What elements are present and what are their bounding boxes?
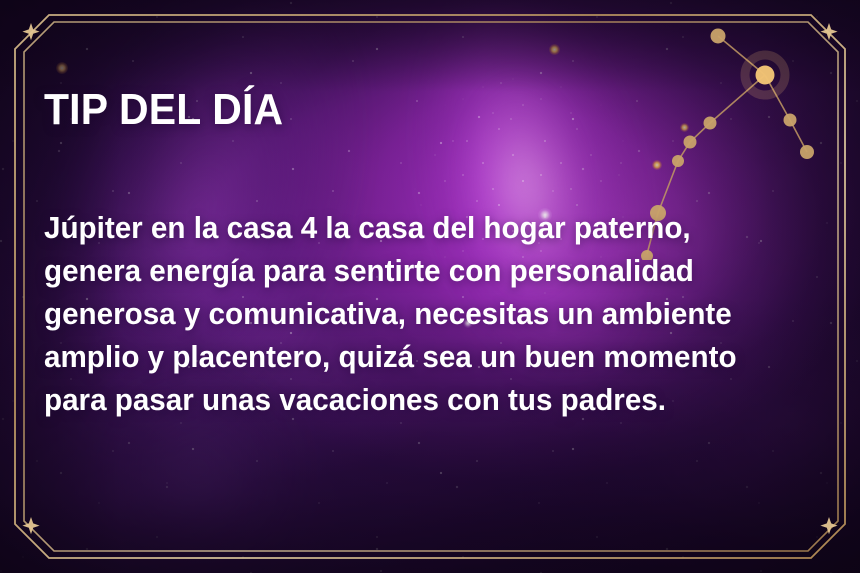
card-content: TIP DEL DÍA Júpiter en la casa 4 la casa… [44, 88, 804, 421]
tip-del-dia-card: TIP DEL DÍA Júpiter en la casa 4 la casa… [0, 0, 860, 573]
tip-body-text: Júpiter en la casa 4 la casa del hogar p… [44, 132, 770, 421]
page-title: TIP DEL DÍA [44, 88, 751, 132]
